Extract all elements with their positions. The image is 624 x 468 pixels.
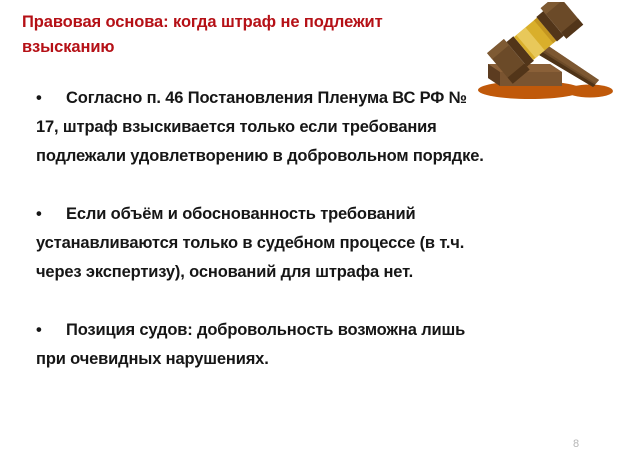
bullet-item: •Согласно п. 46 Постановления Пленума ВС… <box>36 84 488 171</box>
judge-gavel-illustration <box>466 2 624 106</box>
bullet-icon: • <box>36 84 66 113</box>
bullet-text: Позиция судов: добровольность возможна л… <box>36 321 465 368</box>
bullet-icon: • <box>36 316 66 345</box>
bullet-icon: • <box>36 200 66 229</box>
slide-canvas: Правовая основа: когда штраф не подлежит… <box>0 0 624 468</box>
slide-body: •Согласно п. 46 Постановления Пленума ВС… <box>36 84 488 374</box>
page-number: 8 <box>563 438 589 450</box>
bullet-text: Согласно п. 46 Постановления Пленума ВС … <box>36 89 484 165</box>
bullet-text: Если объём и обоснованность требований у… <box>36 205 464 281</box>
bullet-item: •Если объём и обоснованность требований … <box>36 200 488 287</box>
slide-title: Правовая основа: когда штраф не подлежит… <box>22 10 467 60</box>
bullet-item: •Позиция судов: добровольность возможна … <box>36 316 488 374</box>
